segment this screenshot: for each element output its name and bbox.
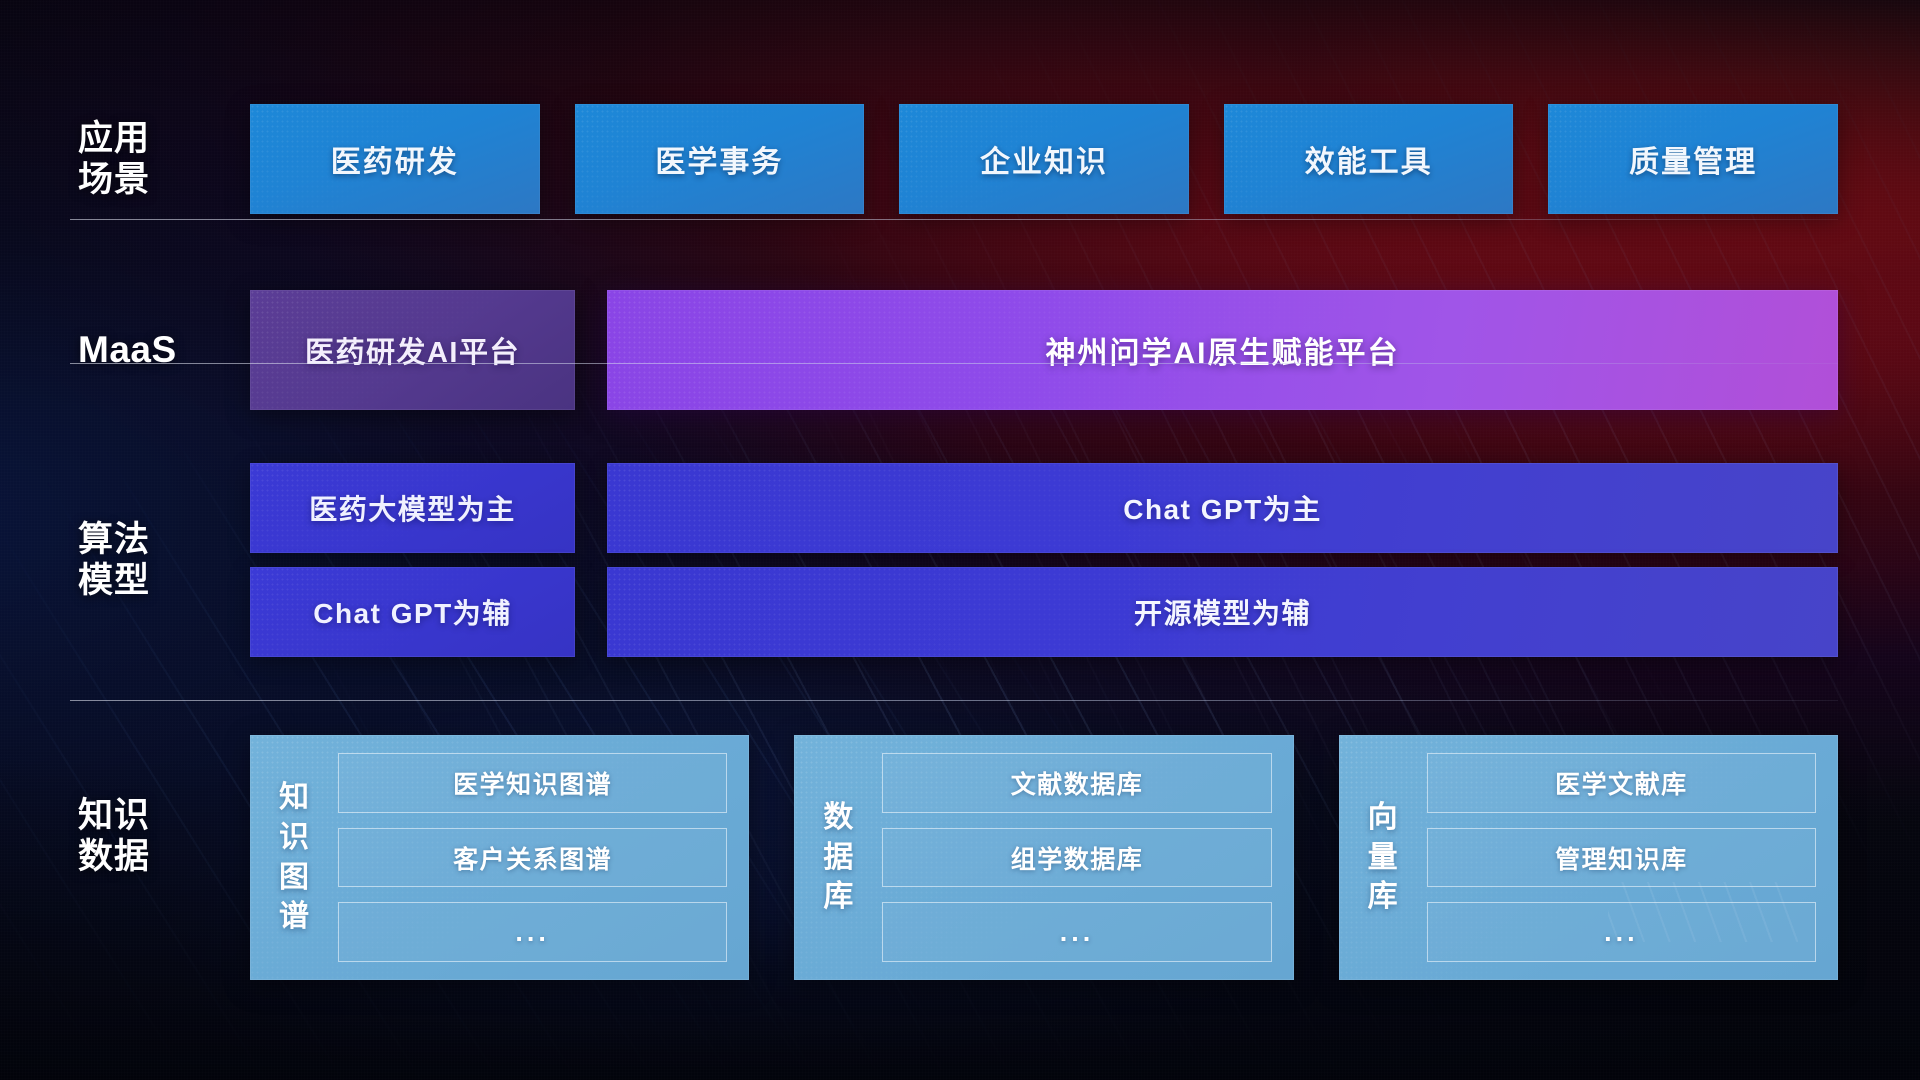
application-card-label: 医学事务 [655, 137, 783, 181]
algorithm-model-list: 医药大模型为主 Chat GPT为主 Chat GPT为辅 开源模型为辅 [250, 463, 1920, 657]
diagram-content: 应用 场景 医药研发 医学事务 企业知识 效能工具 质量管理 [0, 0, 1920, 1080]
algorithm-card-label: 医药大模型为主 [309, 488, 516, 528]
knowledge-item-more[interactable]: ... [338, 902, 727, 962]
application-card-label: 质量管理 [1629, 137, 1757, 181]
application-card-drug-rd[interactable]: 医药研发 [250, 104, 540, 214]
divider-maas-algorithm [70, 363, 1838, 364]
application-card-label: 企业知识 [980, 137, 1108, 181]
row-knowledge-data: 知识 数据 知识图谱 医学知识图谱 客户关系图谱 ... 数据库 文献数据库 组… [0, 735, 1920, 985]
row-label-application-scenarios: 应用 场景 [0, 118, 250, 201]
row-maas: MaaS 医药研发AI平台 神州问学AI原生赋能平台 [0, 290, 1920, 410]
divider-applications-maas [70, 219, 1838, 220]
knowledge-card-title: 知识图谱 [268, 753, 320, 962]
row-label-algorithm-models: 算法 模型 [0, 519, 250, 602]
application-card-list: 医药研发 医学事务 企业知识 效能工具 质量管理 [250, 104, 1920, 214]
application-card-quality-management[interactable]: 质量管理 [1548, 104, 1838, 214]
knowledge-item-more[interactable]: ... [882, 902, 1271, 962]
maas-card-shenzhou-wenxue-platform[interactable]: 神州问学AI原生赋能平台 [607, 290, 1838, 410]
algorithm-row-primary: 医药大模型为主 Chat GPT为主 [250, 463, 1838, 553]
row-algorithm-models: 算法 模型 医药大模型为主 Chat GPT为主 Chat GPT为辅 开源模型… [0, 455, 1920, 665]
slide-canvas: 应用 场景 医药研发 医学事务 企业知识 效能工具 质量管理 [0, 0, 1920, 1080]
algorithm-card-opensource-secondary[interactable]: 开源模型为辅 [607, 567, 1838, 657]
algorithm-row-secondary: Chat GPT为辅 开源模型为辅 [250, 567, 1838, 657]
knowledge-card-list: 知识图谱 医学知识图谱 客户关系图谱 ... 数据库 文献数据库 组学数据库 .… [250, 735, 1920, 980]
knowledge-card-vector-store[interactable]: 向量库 医学文献库 管理知识库 ... [1339, 735, 1838, 980]
divider-algorithm-knowledge [70, 700, 1838, 701]
knowledge-item-list: 医学文献库 管理知识库 ... [1427, 753, 1816, 962]
knowledge-item-customer-relation-graph[interactable]: 客户关系图谱 [338, 828, 727, 888]
algorithm-card-label: 开源模型为辅 [1134, 592, 1311, 632]
maas-card-drug-rd-ai-platform[interactable]: 医药研发AI平台 [250, 290, 575, 410]
application-card-label: 医药研发 [331, 137, 459, 181]
knowledge-item-medical-knowledge-graph[interactable]: 医学知识图谱 [338, 753, 727, 813]
algorithm-card-label: Chat GPT为主 [1123, 488, 1322, 528]
application-card-label: 效能工具 [1305, 137, 1433, 181]
knowledge-item-omics-database[interactable]: 组学数据库 [882, 828, 1271, 888]
maas-card-label: 神州问学AI原生赋能平台 [1046, 328, 1400, 372]
knowledge-card-knowledge-graph[interactable]: 知识图谱 医学知识图谱 客户关系图谱 ... [250, 735, 749, 980]
knowledge-card-title: 数据库 [812, 753, 864, 962]
knowledge-item-list: 文献数据库 组学数据库 ... [882, 753, 1271, 962]
row-label-knowledge-data: 知识 数据 [0, 735, 250, 878]
row-label-maas: MaaS [0, 328, 250, 372]
algorithm-card-pharma-llm-primary[interactable]: 医药大模型为主 [250, 463, 575, 553]
algorithm-card-label: Chat GPT为辅 [313, 592, 512, 632]
maas-card-label: 医药研发AI平台 [305, 329, 520, 371]
algorithm-card-chatgpt-secondary[interactable]: Chat GPT为辅 [250, 567, 575, 657]
row-application-scenarios: 应用 场景 医药研发 医学事务 企业知识 效能工具 质量管理 [0, 104, 1920, 214]
knowledge-item-list: 医学知识图谱 客户关系图谱 ... [338, 753, 727, 962]
knowledge-card-title: 向量库 [1357, 753, 1409, 962]
application-card-medical-affairs[interactable]: 医学事务 [575, 104, 865, 214]
application-card-enterprise-knowledge[interactable]: 企业知识 [899, 104, 1189, 214]
knowledge-card-database[interactable]: 数据库 文献数据库 组学数据库 ... [794, 735, 1293, 980]
knowledge-item-literature-database[interactable]: 文献数据库 [882, 753, 1271, 813]
knowledge-item-medical-literature-store[interactable]: 医学文献库 [1427, 753, 1816, 813]
application-card-efficiency-tools[interactable]: 效能工具 [1224, 104, 1514, 214]
knowledge-item-management-knowledge-store[interactable]: 管理知识库 [1427, 828, 1816, 888]
knowledge-item-more[interactable]: ... [1427, 902, 1816, 962]
algorithm-card-chatgpt-primary[interactable]: Chat GPT为主 [607, 463, 1838, 553]
maas-platform-list: 医药研发AI平台 神州问学AI原生赋能平台 [250, 290, 1920, 410]
